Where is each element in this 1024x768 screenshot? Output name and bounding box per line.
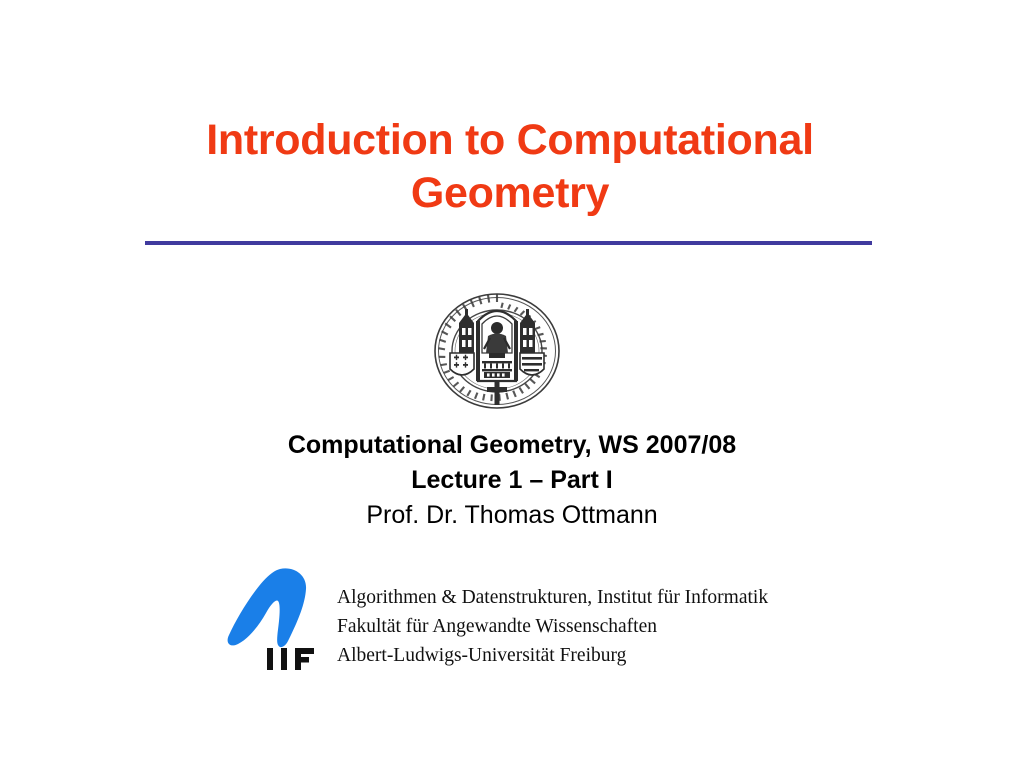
iif-logo-icon (224, 565, 328, 673)
title-divider-rule (145, 241, 872, 245)
title-line-1: Introduction to Computational (142, 114, 878, 167)
title-line-2: Geometry (142, 167, 878, 220)
institute-address: Algorithmen & Datenstrukturen, Institut … (337, 583, 857, 670)
address-line-1: Algorithmen & Datenstrukturen, Institut … (337, 583, 857, 612)
lecture-number: Lecture 1 – Part I (132, 463, 892, 498)
address-line-3: Albert-Ludwigs-Universität Freiburg (337, 641, 857, 670)
university-seal-icon (432, 291, 562, 411)
lecturer-name: Prof. Dr. Thomas Ottmann (132, 498, 892, 533)
page-title: Introduction to Computational Geometry (142, 114, 878, 220)
institute-footer: Algorithmen & Datenstrukturen, Institut … (224, 565, 864, 685)
presentation-slide: Introduction to Computational Geometry (0, 0, 1024, 768)
address-line-2: Fakultät für Angewandte Wissenschaften (337, 612, 857, 641)
lecture-info: Computational Geometry, WS 2007/08 Lectu… (132, 428, 892, 533)
course-title: Computational Geometry, WS 2007/08 (132, 428, 892, 463)
